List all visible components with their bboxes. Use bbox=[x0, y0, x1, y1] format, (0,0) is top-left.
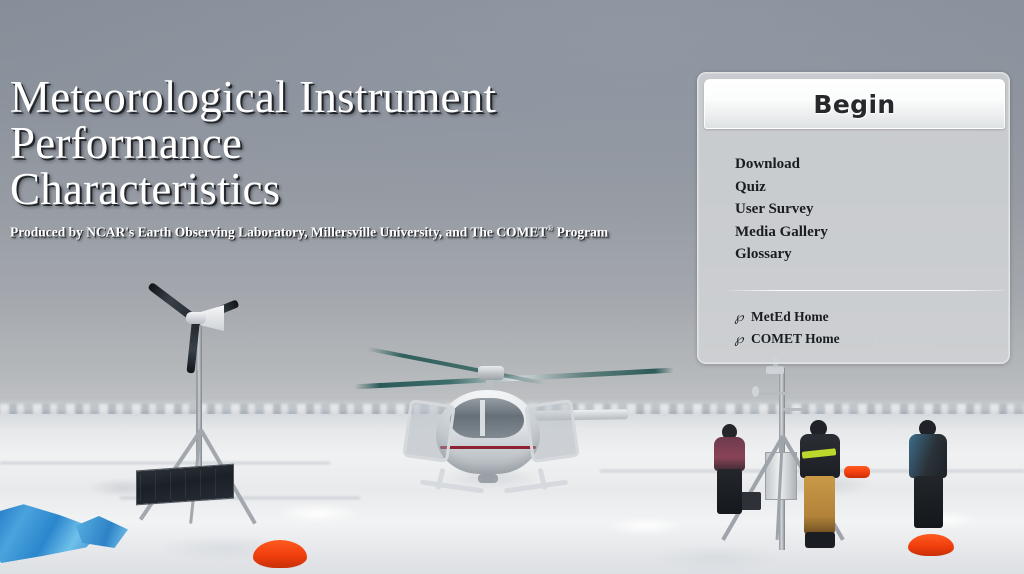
link-meted-home[interactable]: ℘ MetEd Home bbox=[733, 307, 993, 327]
menu-list: Download Quiz User Survey Media Gallery … bbox=[735, 153, 985, 266]
title-screen: Meteorological Instrument Performance Ch… bbox=[0, 0, 1024, 574]
link-comet-home[interactable]: ℘ COMET Home bbox=[733, 329, 993, 349]
page-title-line-1: Meteorological Instrument bbox=[10, 74, 670, 120]
orange-case bbox=[844, 466, 870, 478]
person-maroon-jacket bbox=[712, 424, 746, 514]
link-icon: ℘ bbox=[733, 307, 745, 327]
turbine-hub bbox=[186, 312, 206, 324]
menu-item-media-gallery[interactable]: Media Gallery bbox=[735, 221, 985, 244]
menu-item-user-survey[interactable]: User Survey bbox=[735, 198, 985, 221]
landing-skid bbox=[504, 480, 568, 494]
windshield bbox=[450, 398, 524, 438]
person-blue-jacket bbox=[908, 420, 948, 538]
panel-divider bbox=[729, 290, 1004, 291]
orange-bag bbox=[253, 540, 307, 568]
external-links: ℘ MetEd Home ℘ COMET Home bbox=[733, 307, 993, 351]
link-icon: ℘ bbox=[733, 329, 745, 349]
navigation-panel: Begin Download Quiz User Survey Media Ga… bbox=[697, 72, 1010, 364]
menu-item-download[interactable]: Download bbox=[735, 153, 985, 176]
helicopter bbox=[400, 358, 630, 508]
page-title-line-2: Performance bbox=[10, 120, 670, 166]
fuselage-stripe bbox=[440, 446, 536, 449]
link-meted-home-label: MetEd Home bbox=[751, 307, 829, 327]
producer-credit-text: Produced by NCAR's Earth Observing Labor… bbox=[10, 225, 547, 240]
menu-item-glossary[interactable]: Glossary bbox=[735, 243, 985, 266]
title-block: Meteorological Instrument Performance Ch… bbox=[10, 74, 670, 241]
begin-button-label: Begin bbox=[813, 90, 895, 119]
solar-panel bbox=[136, 464, 234, 506]
rotor-hub bbox=[478, 366, 504, 380]
menu-item-quiz[interactable]: Quiz bbox=[735, 176, 985, 199]
begin-button[interactable]: Begin bbox=[704, 79, 1005, 129]
ice-seam bbox=[0, 462, 330, 464]
cabin-door-right bbox=[524, 399, 580, 463]
landing-skid bbox=[420, 480, 484, 494]
cabin-door-left bbox=[402, 399, 456, 463]
page-title-line-3: Characteristics bbox=[10, 166, 670, 212]
producer-credit: Produced by NCAR's Earth Observing Labor… bbox=[10, 220, 665, 241]
person-hivis-jacket bbox=[798, 420, 842, 548]
producer-credit-text-end: Program bbox=[553, 225, 608, 240]
link-comet-home-label: COMET Home bbox=[751, 329, 840, 349]
